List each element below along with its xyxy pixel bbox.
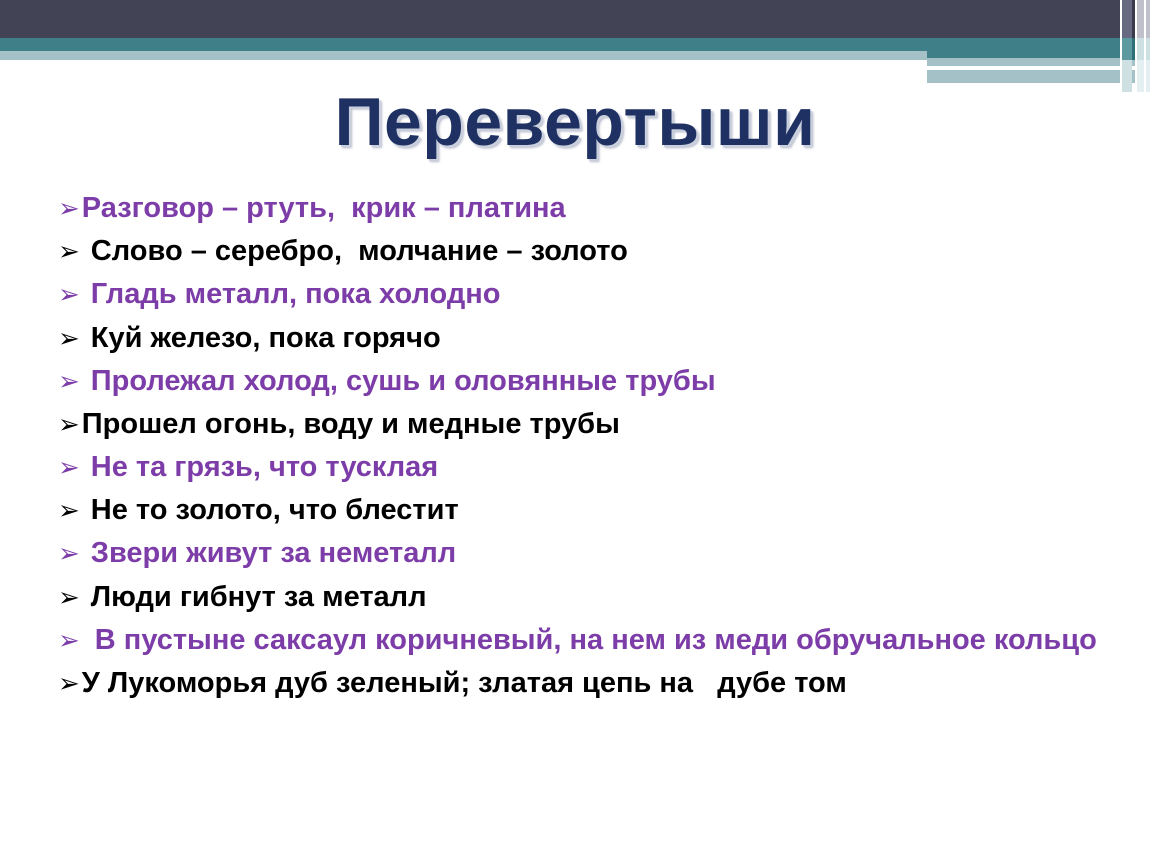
header-stripe-lower-teal-1 (1122, 38, 1132, 60)
header-stripe-grey-1 (1122, 0, 1132, 38)
header-band-pale-right-lower (927, 70, 1150, 79)
header-band-pale-left (0, 51, 927, 60)
bullet-arrow-icon: ➢ (58, 663, 82, 703)
bullet-arrow-icon: ➢ (58, 274, 82, 314)
slide-header-decoration (0, 0, 1150, 92)
bullet-item: ➢Не та грязь, что тусклая (58, 447, 1098, 488)
bullet-item: ➢Куй железо, пока горячо (58, 318, 1098, 359)
bullet-arrow-icon: ➢ (58, 490, 82, 530)
bullet-item: ➢Гладь металл, пока холодно (58, 274, 1098, 315)
bullet-item: ➢Прошел огонь, воду и медные трубы (58, 404, 1098, 445)
bullet-arrow-icon: ➢ (58, 361, 82, 401)
bullet-arrow-icon: ➢ (58, 577, 82, 617)
header-band-pale-tail (927, 79, 1150, 83)
bullet-item: ➢Разговор – ртуть, крик – платина (58, 188, 1098, 229)
bullet-item: ➢Люди гибнут за металл (58, 577, 1098, 618)
bullet-arrow-icon: ➢ (58, 447, 82, 487)
bullet-item-text: Слово – серебро, молчание – золото (82, 231, 1098, 272)
bullet-item-text: Разговор – ртуть, крик – платина (82, 188, 1098, 229)
bullet-item-text: В пустыне саксаул коричневый, на нем из … (82, 620, 1098, 661)
bullet-list: ➢Разговор – ртуть, крик – платина➢Слово … (58, 188, 1098, 706)
bullet-item-text: Прошел огонь, воду и медные трубы (82, 404, 1098, 445)
bullet-item-text: Не то золото, что блестит (82, 490, 1098, 531)
header-band-pale-right-upper (927, 58, 1150, 66)
bullet-arrow-icon: ➢ (58, 318, 82, 358)
header-stripe-lower-pale-1 (1137, 38, 1144, 60)
bullet-item: ➢Не то золото, что блестит (58, 490, 1098, 531)
bullet-item: ➢В пустыне саксаул коричневый, на нем из… (58, 620, 1098, 661)
slide-title: Перевертыши (0, 88, 1150, 156)
bullet-item: ➢Пролежал холод, сушь и оловянные трубы (58, 361, 1098, 402)
header-band-dark-slate (0, 0, 1150, 38)
bullet-item-text: Звери живут за неметалл (82, 533, 1098, 574)
header-stripe-lower-pale-2 (1146, 38, 1150, 60)
bullet-item-text: Пролежал холод, сушь и оловянные трубы (82, 361, 1098, 402)
header-stripe-grey-3 (1146, 0, 1150, 38)
bullet-arrow-icon: ➢ (58, 404, 82, 444)
bullet-arrow-icon: ➢ (58, 533, 82, 573)
header-stripe-grey-2 (1137, 0, 1144, 38)
bullet-item-text: Люди гибнут за металл (82, 577, 1098, 618)
bullet-item-text: Не та грязь, что тусклая (82, 447, 1098, 488)
bullet-item: ➢У Лукоморья дуб зеленый; златая цепь на… (58, 663, 1098, 704)
bullet-item: ➢Звери живут за неметалл (58, 533, 1098, 574)
bullet-arrow-icon: ➢ (58, 620, 82, 660)
bullet-item-text: Гладь металл, пока холодно (82, 274, 1098, 315)
bullet-item-text: Куй железо, пока горячо (82, 318, 1098, 359)
bullet-item: ➢Слово – серебро, молчание – золото (58, 231, 1098, 272)
bullet-item-text: У Лукоморья дуб зеленый; златая цепь на … (82, 663, 1098, 704)
bullet-arrow-icon: ➢ (58, 188, 82, 228)
bullet-arrow-icon: ➢ (58, 231, 82, 271)
